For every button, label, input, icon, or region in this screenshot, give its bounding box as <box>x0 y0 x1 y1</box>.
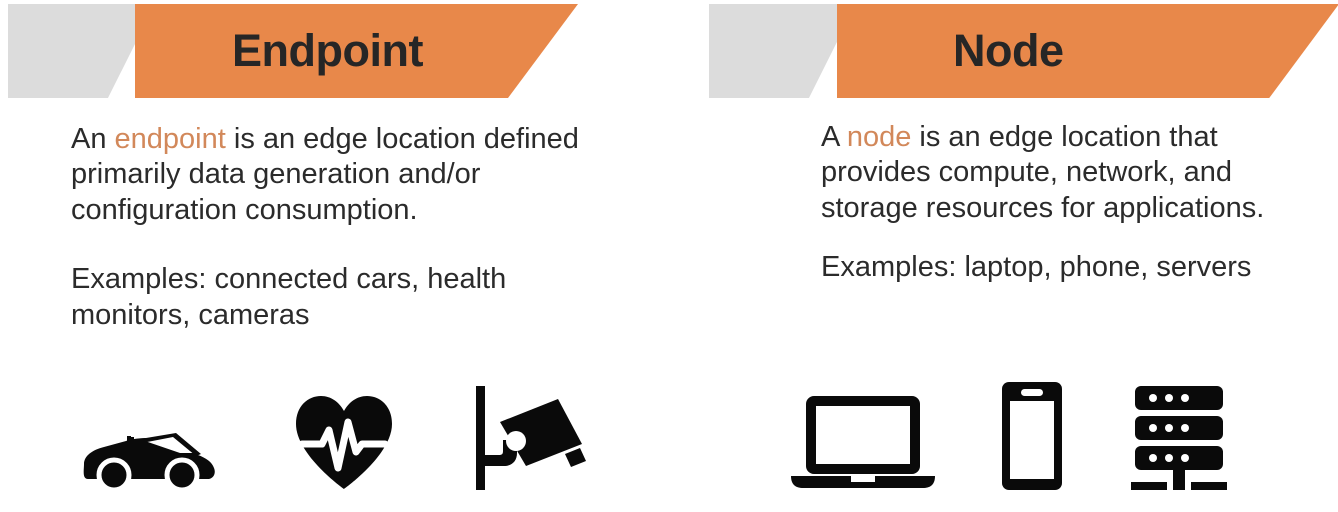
smartphone-icon <box>999 380 1065 492</box>
panel-copy-endpoint: An endpoint is an edge location defined … <box>71 122 601 333</box>
panel-copy-node: A node is an edge location that provides… <box>821 120 1321 286</box>
security-camera-icon <box>470 382 590 492</box>
panel-endpoint: Endpoint An endpoint is an edge location… <box>0 0 669 512</box>
examples-endpoint: Examples: connected cars, health monitor… <box>71 262 601 333</box>
laptop-icon <box>789 390 937 492</box>
car-icon <box>70 422 218 492</box>
definition-lead: A <box>821 121 847 153</box>
heart-pulse-icon <box>290 392 398 492</box>
panel-title-endpoint: Endpoint <box>232 4 423 98</box>
icon-row-endpoint <box>70 382 600 492</box>
icon-row-node <box>789 380 1309 492</box>
examples-node: Examples: laptop, phone, servers <box>821 250 1321 285</box>
panel-title-node: Node <box>953 4 1064 98</box>
definition-endpoint: An endpoint is an edge location defined … <box>71 122 601 228</box>
panel-node: Node A node is an edge location that pro… <box>669 0 1338 512</box>
definition-term: endpoint <box>115 123 226 155</box>
definition-term: node <box>847 121 912 153</box>
banner-endpoint: Endpoint <box>0 4 669 98</box>
banner-node: Node <box>669 4 1338 98</box>
definition-node: A node is an edge location that provides… <box>821 120 1321 226</box>
server-stack-icon <box>1127 382 1231 492</box>
paragraph-spacer <box>71 228 601 262</box>
banner-orange-parallelogram <box>837 4 1338 98</box>
definition-lead: An <box>71 123 115 155</box>
comparison-board: Endpoint An endpoint is an edge location… <box>0 0 1338 512</box>
paragraph-spacer <box>821 226 1321 250</box>
banner-gray-parallelogram <box>8 4 155 98</box>
banner-gray-parallelogram <box>709 4 856 98</box>
